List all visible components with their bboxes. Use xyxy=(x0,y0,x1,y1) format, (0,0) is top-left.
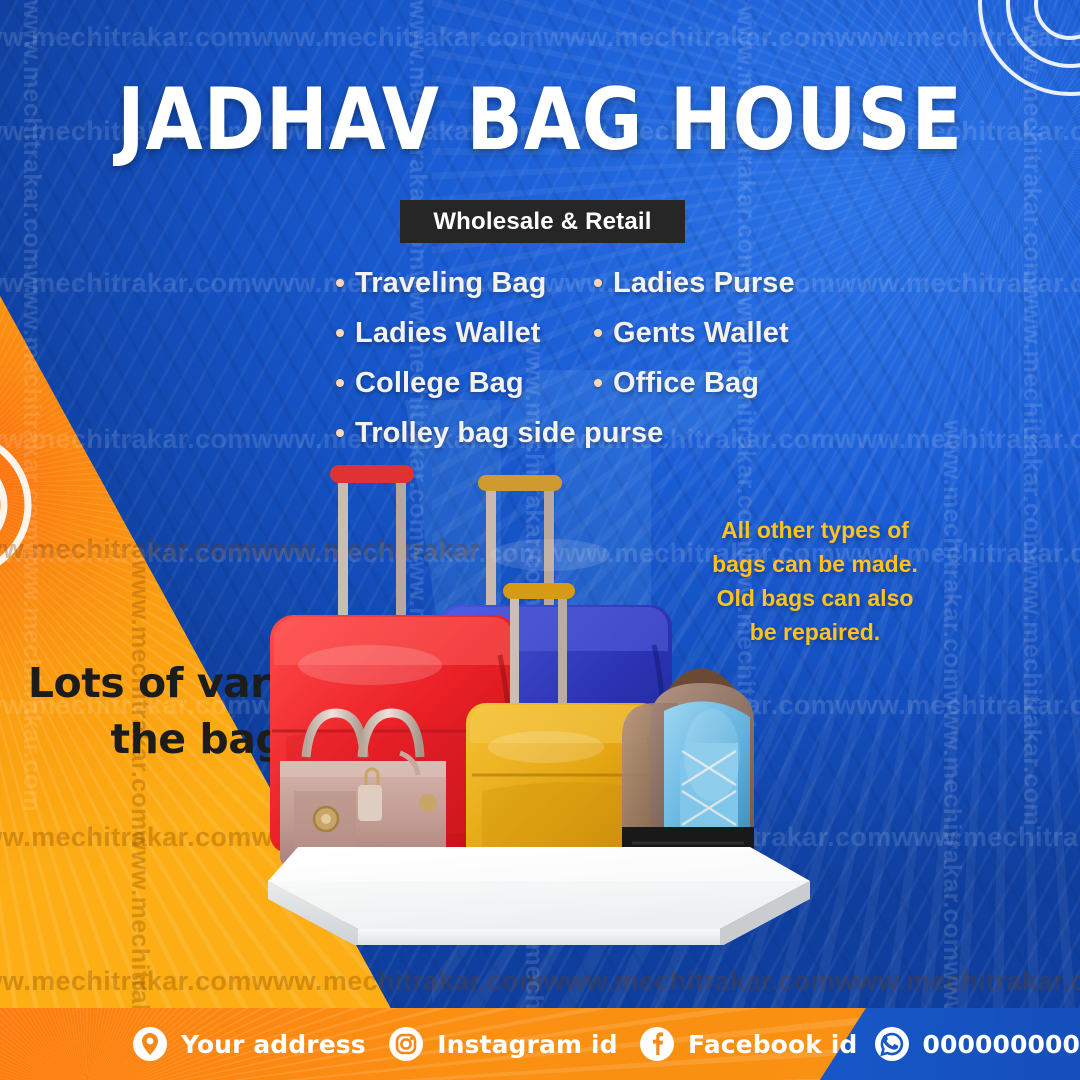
service-label: College Bag xyxy=(355,367,524,400)
bullet-dot-icon xyxy=(336,379,344,387)
bullet-dot-icon xyxy=(336,279,344,287)
contact-facebook-label: Facebook id xyxy=(688,1030,857,1059)
contact-instagram-label: Instagram id xyxy=(437,1030,617,1059)
service-cell: Gents Wallet xyxy=(594,317,789,350)
badge-label: Wholesale & Retail xyxy=(433,208,651,236)
bullet-dot-icon xyxy=(594,279,602,287)
service-label: Trolley bag side purse xyxy=(355,417,663,450)
service-label: Ladies Purse xyxy=(613,267,795,300)
service-cell: Traveling Bag xyxy=(336,267,594,300)
whatsapp-icon xyxy=(874,1026,910,1062)
list-item: College Bag Office Bag xyxy=(336,358,806,408)
service-cell: College Bag xyxy=(336,367,594,400)
contact-phone-label: 000000000 xyxy=(923,1030,1080,1059)
contact-footer: Your address Instagram id xyxy=(0,1008,1080,1080)
location-pin-icon xyxy=(132,1026,168,1062)
poster-canvas: www.mechitrakar.comwww.mechitrakar.comww… xyxy=(0,0,1080,1080)
contact-address-label: Your address xyxy=(181,1030,366,1059)
service-cell: Office Bag xyxy=(594,367,759,400)
list-item: Ladies Wallet Gents Wallet xyxy=(336,308,806,358)
product-showcase xyxy=(250,455,870,945)
service-cell: Ladies Purse xyxy=(594,267,795,300)
service-label: Traveling Bag xyxy=(355,267,546,300)
concentric-rings-left-icon xyxy=(0,420,108,590)
service-label: Gents Wallet xyxy=(613,317,789,350)
service-cell: Ladies Wallet xyxy=(336,317,594,350)
contact-whatsapp[interactable]: 000000000 xyxy=(874,1026,1080,1062)
facebook-icon xyxy=(639,1026,675,1062)
bullet-dot-icon xyxy=(594,329,602,337)
bullet-dot-icon xyxy=(594,379,602,387)
services-list: Traveling Bag Ladies Purse Ladies Wallet… xyxy=(336,258,806,458)
service-label: Ladies Wallet xyxy=(355,317,541,350)
list-item: Trolley bag side purse xyxy=(336,408,806,458)
bullet-dot-icon xyxy=(336,329,344,337)
instagram-icon xyxy=(388,1026,424,1062)
status-badge: Wholesale & Retail xyxy=(400,200,685,243)
contact-list: Your address Instagram id xyxy=(0,1008,1080,1080)
contact-instagram[interactable]: Instagram id xyxy=(388,1026,617,1062)
contact-facebook[interactable]: Facebook id xyxy=(639,1026,857,1062)
list-item: Traveling Bag Ladies Purse xyxy=(336,258,806,308)
blue-backpack xyxy=(622,675,754,875)
bullet-dot-icon xyxy=(336,429,344,437)
page-title: JADHAV BAG HOUSE xyxy=(76,74,1005,166)
white-hexagon-platform xyxy=(268,847,810,945)
contact-address[interactable]: Your address xyxy=(132,1026,366,1062)
service-cell: Trolley bag side purse xyxy=(336,417,663,450)
service-label: Office Bag xyxy=(613,367,759,400)
